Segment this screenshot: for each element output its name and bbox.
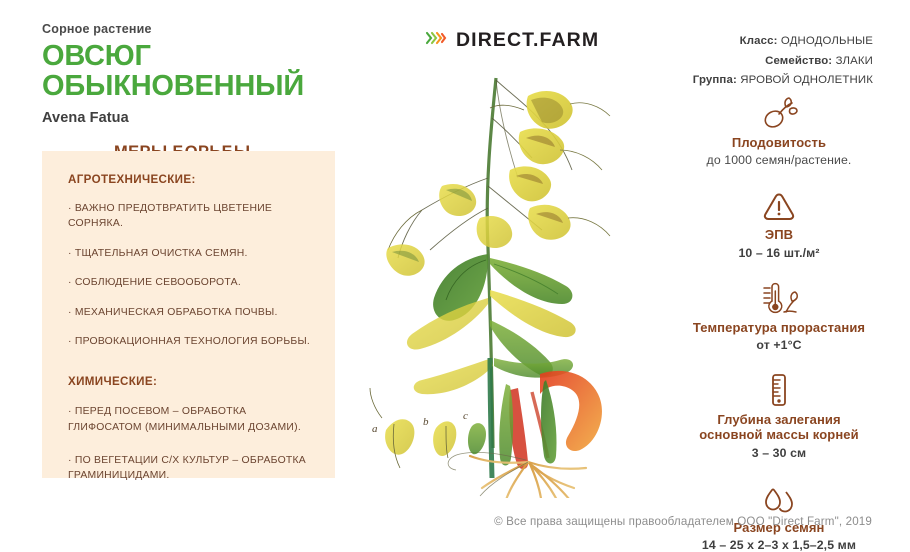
stat-value: 3 – 30 см [648,446,910,460]
ruler-icon [648,369,910,407]
stat-value: до 1000 семян/растение. [648,153,910,167]
detail-label-b: b [423,416,429,428]
page-title-line2: ОБЫКНОВЕННЫЙ [42,71,342,101]
page-header: Сорное растение ОВСЮГ ОБЫКНОВЕННЫЙ Avena… [42,22,342,162]
classification-value: ЗЛАКИ [836,55,873,67]
classification-row: Класс: ОДНОДОЛЬНЫЕ [693,32,873,52]
classification-key: Группа: [693,74,737,86]
classification-row: Группа: ЯРОВОЙ ОДНОЛЕТНИК [693,71,873,91]
two-seeds-icon [648,477,910,515]
stats-list: Плодовитость до 1000 семян/растение. ЭПВ… [648,92,910,552]
stat-germination-temperature: Температура прорастания от +1°С [648,277,910,352]
stat-label: Температура прорастания [648,320,910,335]
detail-label-a: a [372,423,378,435]
agro-item: · МЕХАНИЧЕСКАЯ ОБРАБОТКА ПОЧВЫ. [68,305,315,320]
page-title-line1: ОВСЮГ [42,40,151,72]
latin-name: Avena Fatua [42,110,342,126]
stat-label-line1: Глубина залегания [717,412,840,427]
stat-value: от +1°С [648,338,910,352]
logo-wordmark: DIRECT.FARM [456,29,599,52]
chevron-stripes-icon [425,29,447,52]
brand-logo[interactable]: DIRECT.FARM [425,29,599,52]
kicker-text: Сорное растение [42,22,342,36]
classification-key: Класс: [740,35,778,47]
classification-row: Семейство: ЗЛАКИ [693,52,873,72]
stat-root-depth: Глубина залегания основной массы корней … [648,369,910,460]
classification-key: Семейство: [765,55,832,67]
chem-item: · ПО ВЕГЕТАЦИИ С/Х КУЛЬТУР – ОБРАБОТКА Г… [68,453,315,483]
stat-fertility: Плодовитость до 1000 семян/растение. [648,92,910,167]
chem-section-heading: ХИМИЧЕСКИЕ: [68,375,315,388]
sprouting-seed-icon [648,92,910,130]
page-title: ОВСЮГ ОБЫКНОВЕННЫЙ [42,41,342,101]
classification-value: ОДНОДОЛЬНЫЕ [781,35,873,47]
stat-epv: ЭПВ 10 – 16 шт./м² [648,184,910,259]
agro-section-heading: АГРОТЕХНИЧЕСКИЕ: [68,173,315,186]
classification-block: Класс: ОДНОДОЛЬНЫЕ Семейство: ЗЛАКИ Груп… [693,32,873,91]
agro-item: · СОБЛЮДЕНИЕ СЕВООБОРОТА. [68,275,315,290]
thermometer-sprout-icon [648,277,910,315]
chem-item: · ПЕРЕД ПОСЕВОМ – ОБРАБОТКА ГЛИФОСАТОМ (… [68,404,315,434]
agro-item: · ТЩАТЕЛЬНАЯ ОЧИСТКА СЕМЯН. [68,246,315,261]
stat-label: Плодовитость [648,135,910,150]
warning-triangle-icon [648,184,910,222]
copyright-footer: © Все права защищены правообладателем ОО… [494,515,872,528]
stat-value: 10 – 16 шт./м² [648,246,910,260]
plant-illustration: a b c [360,58,670,498]
classification-value: ЯРОВОЙ ОДНОЛЕТНИК [740,74,873,86]
measures-panel: АГРОТЕХНИЧЕСКИЕ: · ВАЖНО ПРЕДОТВРАТИТЬ Ц… [42,151,335,478]
stat-label: Глубина залегания основной массы корней [648,412,910,443]
stat-label-line2: основной массы корней [699,427,858,442]
agro-item: · ВАЖНО ПРЕДОТВРАТИТЬ ЦВЕТЕНИЕ СОРНЯКА. [68,201,315,231]
detail-label-c: c [463,410,468,422]
stat-label: ЭПВ [648,227,910,242]
agro-item: · ПРОВОКАЦИОННАЯ ТЕХНОЛОГИЯ БОРЬБЫ. [68,334,315,349]
